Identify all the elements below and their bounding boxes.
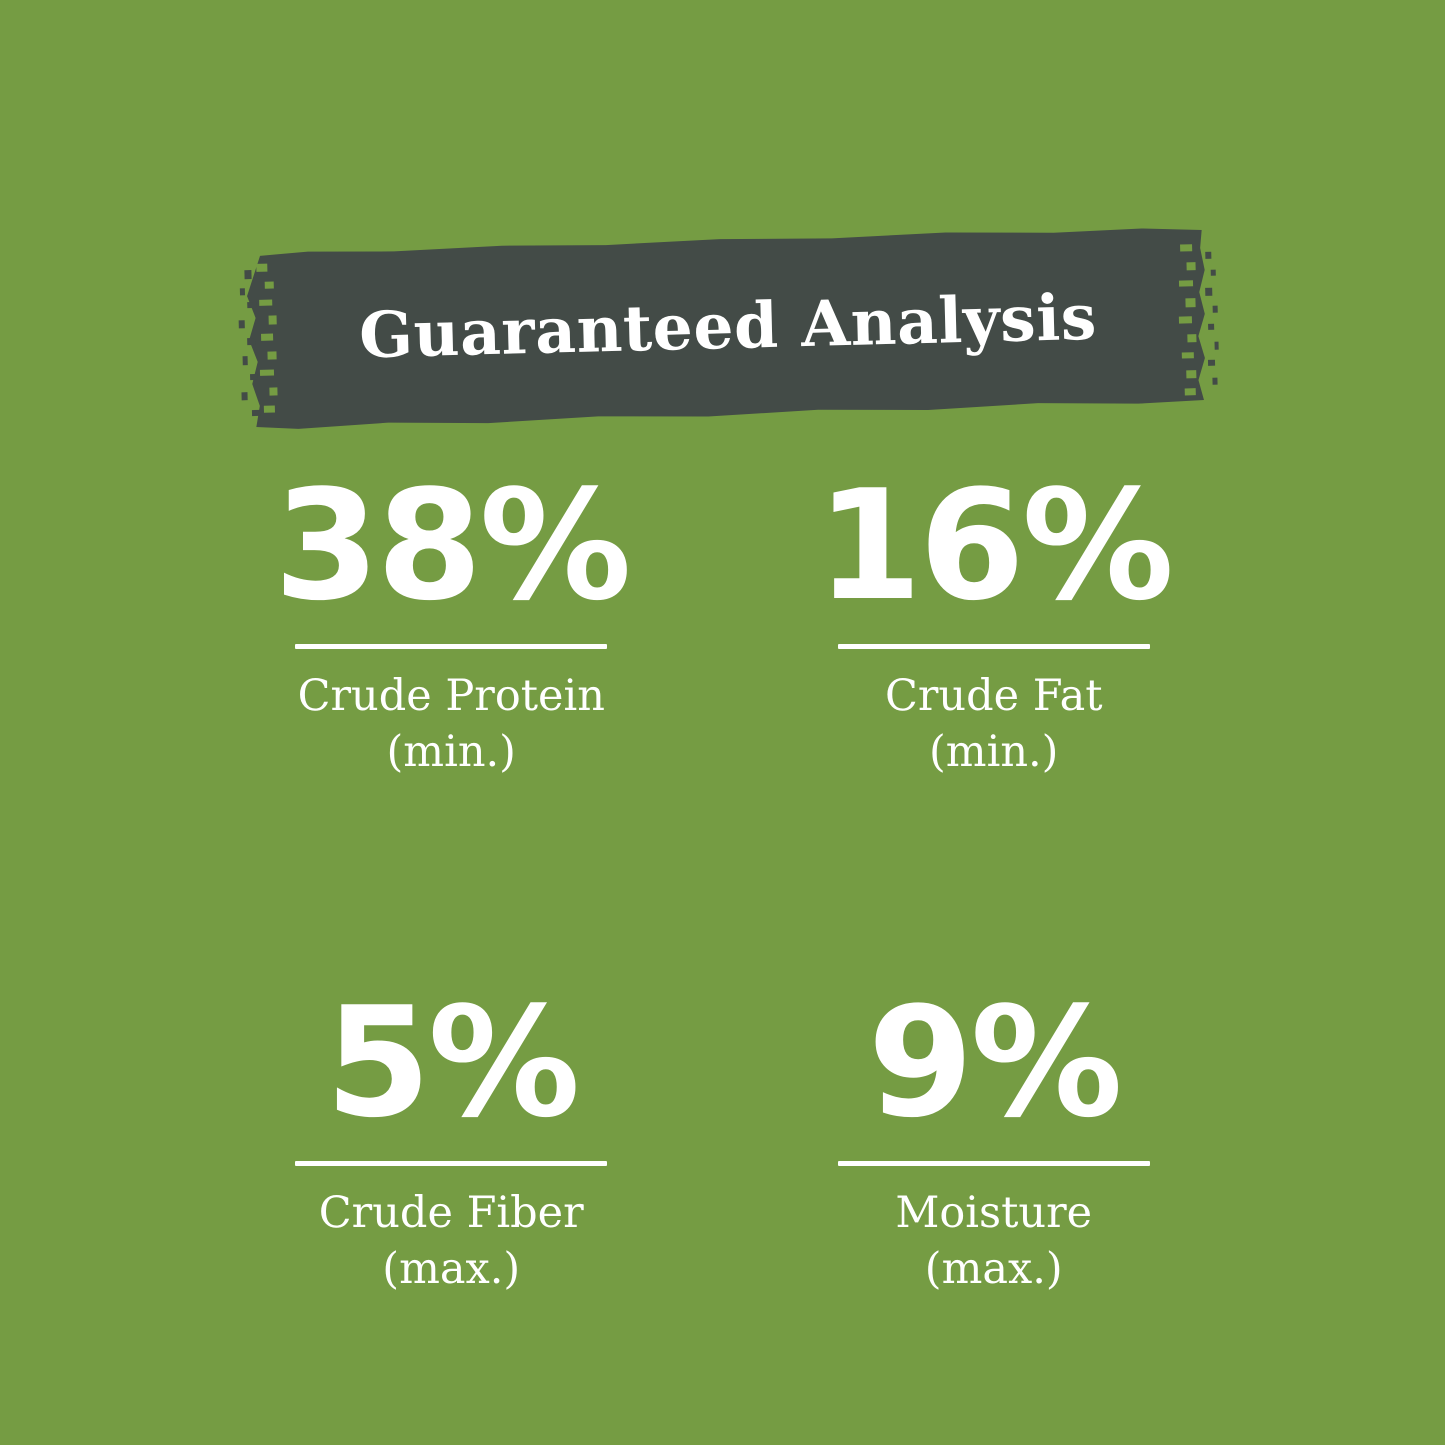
- stat-divider-rule: [838, 1161, 1150, 1166]
- stat-label-crude-fiber: Crude Fiber: [319, 1186, 584, 1242]
- stat-qualifier-crude-fat: (min.): [929, 725, 1058, 781]
- stat-label-moisture: Moisture: [895, 1186, 1092, 1242]
- guaranteed-analysis-grid: 38% Crude Protein (min.) 16% Crude Fat (…: [180, 470, 1265, 1298]
- page-title: Guaranteed Analysis: [234, 218, 1223, 439]
- stat-value-crude-fiber: 5%: [325, 987, 577, 1139]
- stat-crude-fat: 16% Crude Fat (min.): [723, 470, 1266, 781]
- stat-divider-rule: [295, 1161, 607, 1166]
- guaranteed-analysis-panel: Guaranteed Analysis 38% Crude Protein (m…: [0, 0, 1445, 1445]
- stat-crude-protein: 38% Crude Protein (min.): [180, 470, 723, 781]
- stat-value-crude-protein: 38%: [274, 470, 629, 622]
- stat-qualifier-moisture: (max.): [925, 1242, 1063, 1298]
- stat-moisture: 9% Moisture (max.): [723, 987, 1266, 1298]
- stat-label-crude-protein: Crude Protein: [298, 669, 605, 725]
- stat-value-crude-fat: 16%: [816, 470, 1171, 622]
- stat-divider-rule: [838, 644, 1150, 649]
- stat-crude-fiber: 5% Crude Fiber (max.): [180, 987, 723, 1298]
- stat-value-moisture: 9%: [868, 987, 1120, 1139]
- stat-label-crude-fat: Crude Fat: [885, 669, 1103, 725]
- stat-divider-rule: [295, 644, 607, 649]
- header-banner: Guaranteed Analysis: [236, 230, 1220, 426]
- stat-qualifier-crude-fiber: (max.): [382, 1242, 520, 1298]
- stat-qualifier-crude-protein: (min.): [387, 725, 516, 781]
